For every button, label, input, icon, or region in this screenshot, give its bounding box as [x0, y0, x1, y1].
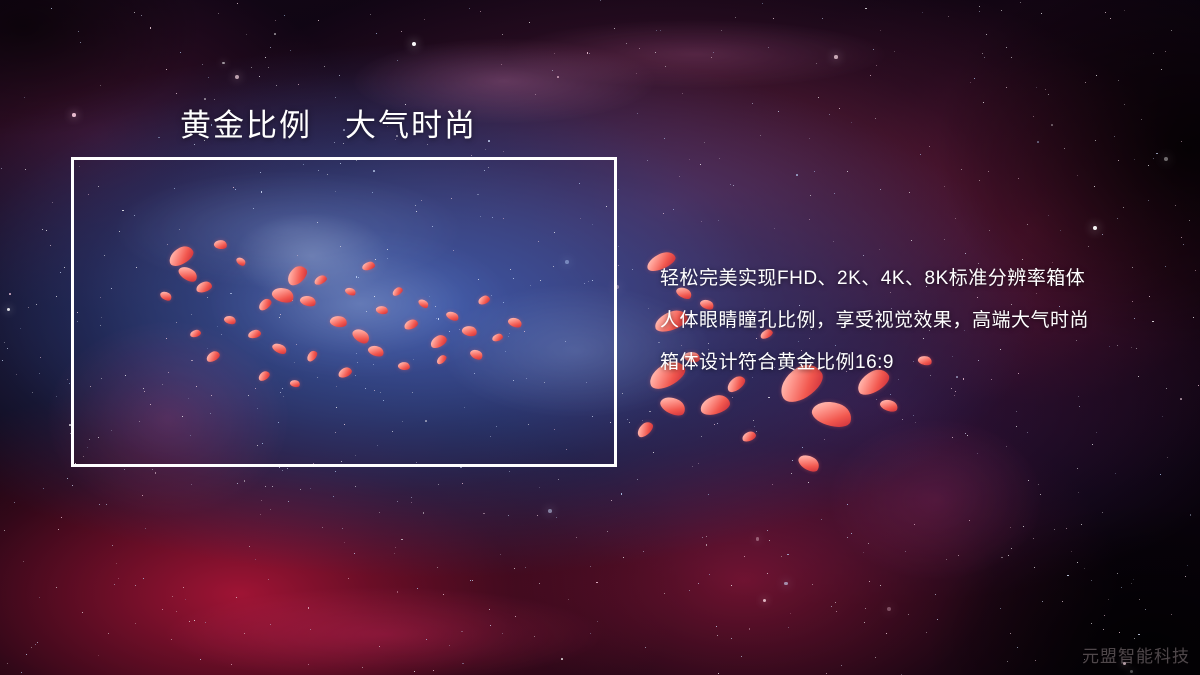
- rose-petal: [367, 343, 386, 358]
- rose-petal: [796, 451, 822, 475]
- rose-petal: [375, 305, 389, 316]
- rose-petal: [313, 274, 328, 286]
- rose-petal: [417, 297, 430, 309]
- rose-petal: [435, 353, 448, 365]
- frame-nebula-wisp: [74, 160, 614, 464]
- framed-photo: [71, 157, 617, 467]
- watermark: 元盟智能科技: [1082, 642, 1190, 667]
- page-title: 黄金比例 大气时尚: [180, 100, 477, 145]
- rose-petal: [213, 239, 227, 250]
- rose-petal: [329, 314, 348, 328]
- frame-petals: [74, 160, 614, 464]
- rose-petal: [195, 280, 213, 294]
- rose-petal: [176, 263, 199, 284]
- frame-nebula-core: [74, 160, 614, 464]
- rose-petal: [284, 263, 310, 289]
- rose-petal: [361, 261, 375, 272]
- rose-petal: [289, 379, 301, 389]
- rose-petal: [741, 430, 757, 443]
- rose-petal: [257, 297, 274, 312]
- rose-petal: [159, 289, 173, 302]
- rose-petal: [397, 361, 410, 371]
- rose-petal: [698, 393, 731, 418]
- rose-petal: [635, 420, 656, 440]
- rose-petal: [879, 397, 900, 414]
- rose-petal: [189, 329, 201, 338]
- framed-photo-content: [74, 160, 614, 464]
- rose-petal: [403, 318, 419, 331]
- rose-petal: [270, 285, 295, 306]
- rose-petal: [205, 349, 222, 363]
- rose-petal: [166, 243, 196, 269]
- rose-petal: [299, 294, 317, 308]
- rose-petal: [428, 333, 448, 350]
- frame-nebula-base: [74, 160, 614, 464]
- rose-petal: [257, 370, 271, 383]
- frame-starfield: [74, 160, 614, 464]
- rose-petal: [344, 286, 357, 297]
- body-line-3: 箱体设计符合黄金比例16:9: [660, 342, 1160, 384]
- rose-petal: [223, 314, 237, 326]
- body-text-block: 轻松完美实现FHD、2K、4K、8K标准分辨率箱体 人体眼睛瞳孔比例，享受视觉效…: [660, 258, 1160, 384]
- presentation-slide: 黄金比例 大气时尚 轻松完美实现FHD、2K、4K、8K标准分辨率箱体 人体眼睛…: [0, 0, 1200, 675]
- rose-petal: [477, 294, 491, 306]
- body-line-1: 轻松完美实现FHD、2K、4K、8K标准分辨率箱体: [660, 258, 1160, 300]
- rose-petal: [461, 324, 478, 338]
- rose-petal: [658, 393, 688, 419]
- rose-petal: [445, 309, 460, 322]
- rose-petal: [235, 256, 247, 268]
- rose-petal: [271, 341, 288, 356]
- rose-petal: [809, 396, 854, 431]
- rose-petal: [305, 349, 319, 363]
- rose-petal: [469, 347, 485, 362]
- rose-petal: [491, 333, 503, 343]
- body-line-2: 人体眼睛瞳孔比例，享受视觉效果，高端大气时尚: [660, 300, 1160, 342]
- rose-petal: [391, 286, 404, 298]
- rose-petal: [247, 329, 261, 339]
- rose-petal: [507, 316, 523, 330]
- rose-petal: [350, 326, 372, 347]
- rose-petal: [337, 366, 353, 379]
